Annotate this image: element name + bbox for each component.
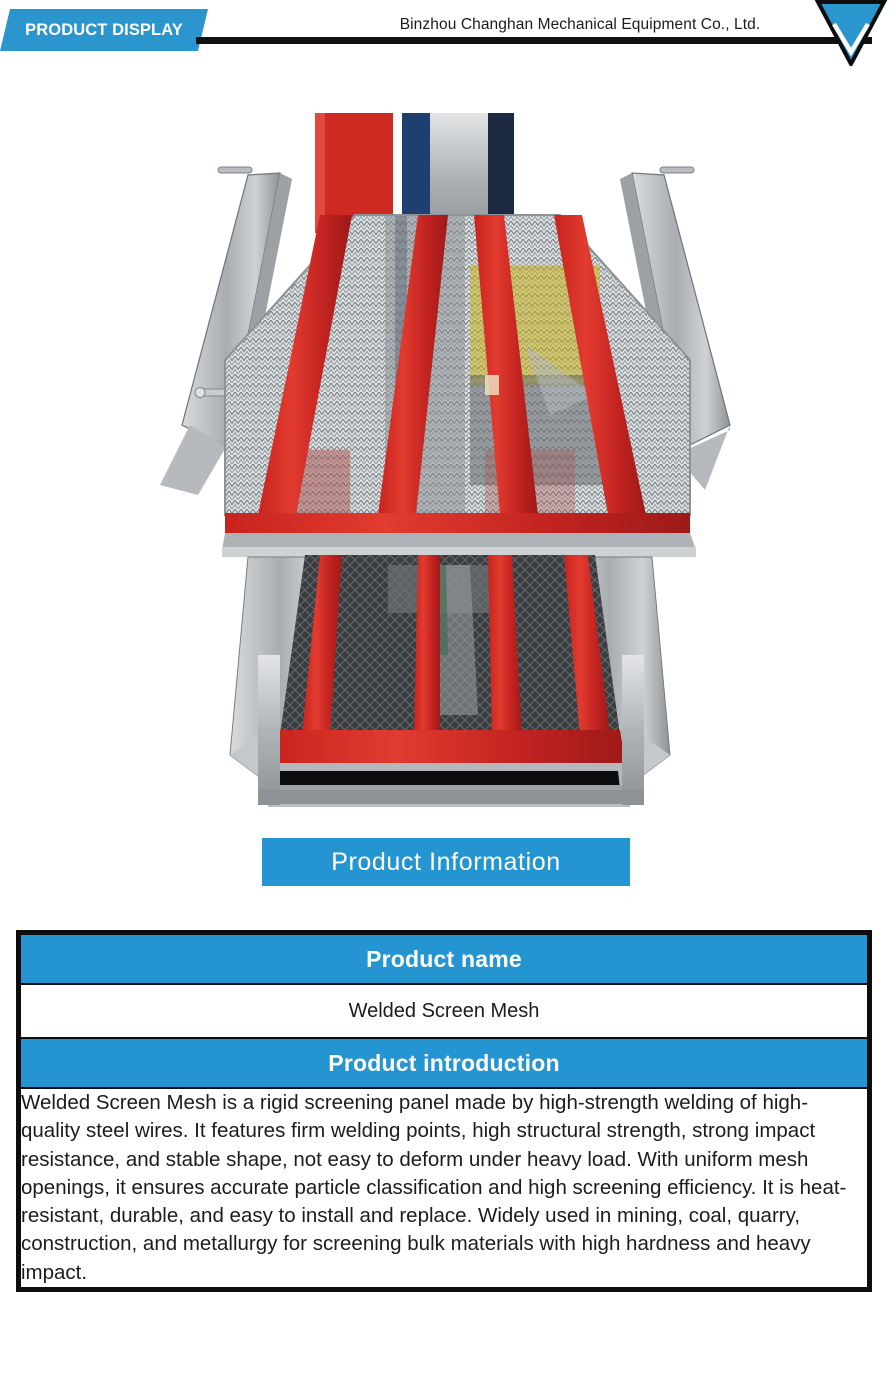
header-divider-bar — [196, 37, 872, 44]
product-introduction-header: Product introduction — [20, 1038, 868, 1088]
product-photo — [130, 95, 770, 810]
product-information-table: Product name Welded Screen Mesh Product … — [16, 930, 872, 1292]
product-photo-illustration — [130, 95, 770, 810]
table-row: Welded Screen Mesh is a rigid screening … — [20, 1088, 868, 1288]
page-header: PRODUCT DISPLAY Binzhou Changhan Mechani… — [0, 0, 896, 70]
company-name: Binzhou Changhan Mechanical Equipment Co… — [330, 13, 830, 37]
triangle-v-logo-icon — [814, 0, 888, 66]
product-name-value: Welded Screen Mesh — [20, 984, 868, 1038]
table-row: Welded Screen Mesh — [20, 984, 868, 1038]
table-row: Product introduction — [20, 1038, 868, 1088]
product-introduction-text: Welded Screen Mesh is a rigid screening … — [20, 1088, 868, 1288]
product-information-label: Product Information — [331, 848, 561, 877]
product-information-banner: Product Information — [262, 838, 630, 886]
badge-label: PRODUCT DISPLAY — [0, 9, 208, 51]
table-row: Product name — [20, 934, 868, 984]
product-name-header: Product name — [20, 934, 868, 984]
product-display-badge: PRODUCT DISPLAY — [0, 9, 208, 51]
